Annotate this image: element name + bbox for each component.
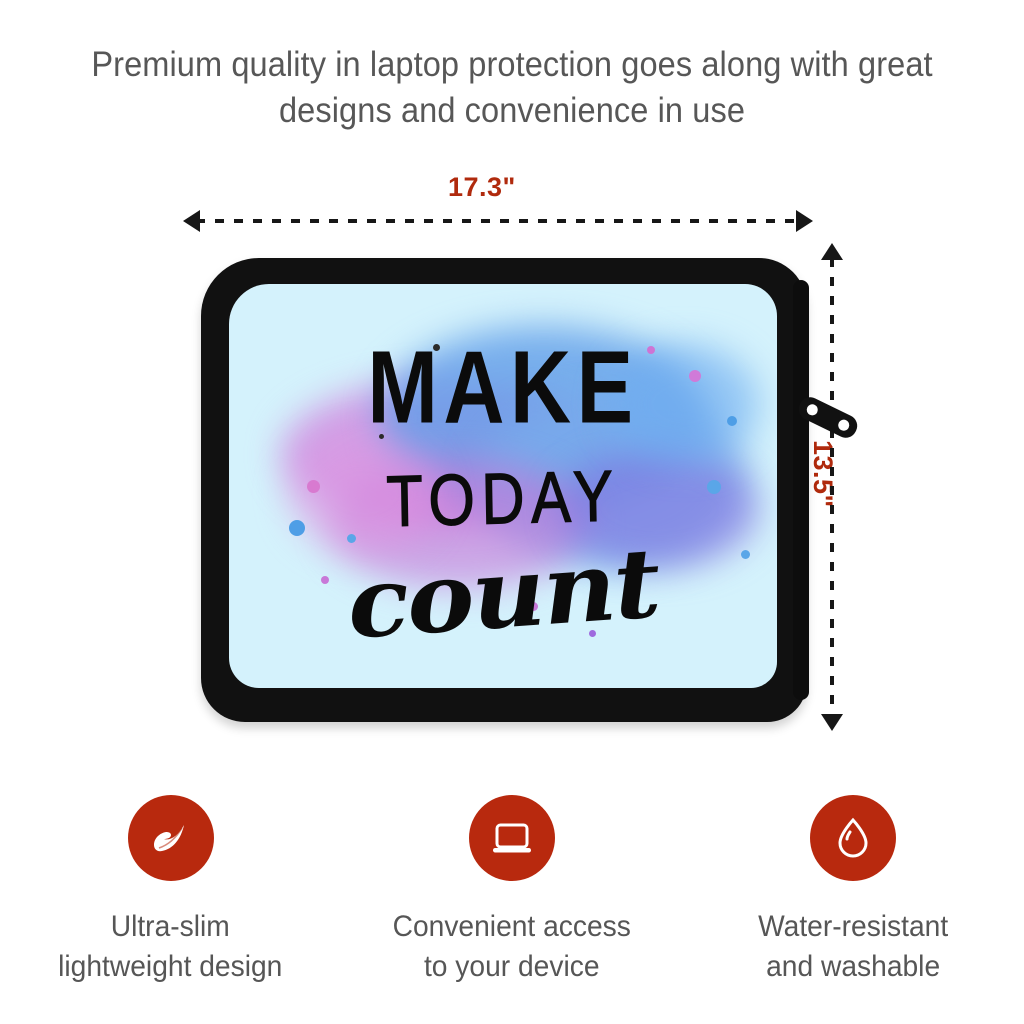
feature-item-water-resistant: Water-resistant and washable (683, 795, 1024, 987)
artwork-word-make: MAKE (251, 336, 755, 439)
sleeve-artwork-text: MAKE TODAY count (229, 284, 777, 688)
sleeve-front-panel: MAKE TODAY count (229, 284, 777, 688)
artwork-word-today: TODAY (239, 457, 766, 542)
headline-line-1: Premium quality in laptop protection goe… (36, 42, 988, 88)
feature-label-convenient-access: Convenient access to your device (393, 907, 631, 987)
feather-icon (128, 795, 214, 881)
page-headline: Premium quality in laptop protection goe… (36, 42, 988, 134)
laptop-icon (469, 795, 555, 881)
arrow-down-icon (821, 714, 843, 731)
headline-line-2: designs and convenience in use (36, 88, 988, 134)
arrow-right-icon (796, 210, 813, 232)
width-dimension-label: 17.3" (448, 172, 516, 203)
arrow-left-icon (183, 210, 200, 232)
feature-label-ultra-slim: Ultra-slim lightweight design (59, 907, 283, 987)
feature-item-convenient-access: Convenient access to your device (341, 795, 682, 987)
feature-item-ultra-slim: Ultra-slim lightweight design (0, 795, 341, 987)
water-drop-icon (810, 795, 896, 881)
feature-label-water-resistant: Water-resistant and washable (758, 907, 948, 987)
width-dimension-line (196, 219, 804, 223)
feature-list: Ultra-slim lightweight design Convenient… (0, 795, 1024, 987)
zipper-track (793, 280, 809, 700)
laptop-sleeve-product: MAKE TODAY count (201, 258, 807, 722)
arrow-up-icon (821, 243, 843, 260)
height-dimension-line (830, 258, 834, 720)
artwork-word-count: count (229, 526, 777, 662)
